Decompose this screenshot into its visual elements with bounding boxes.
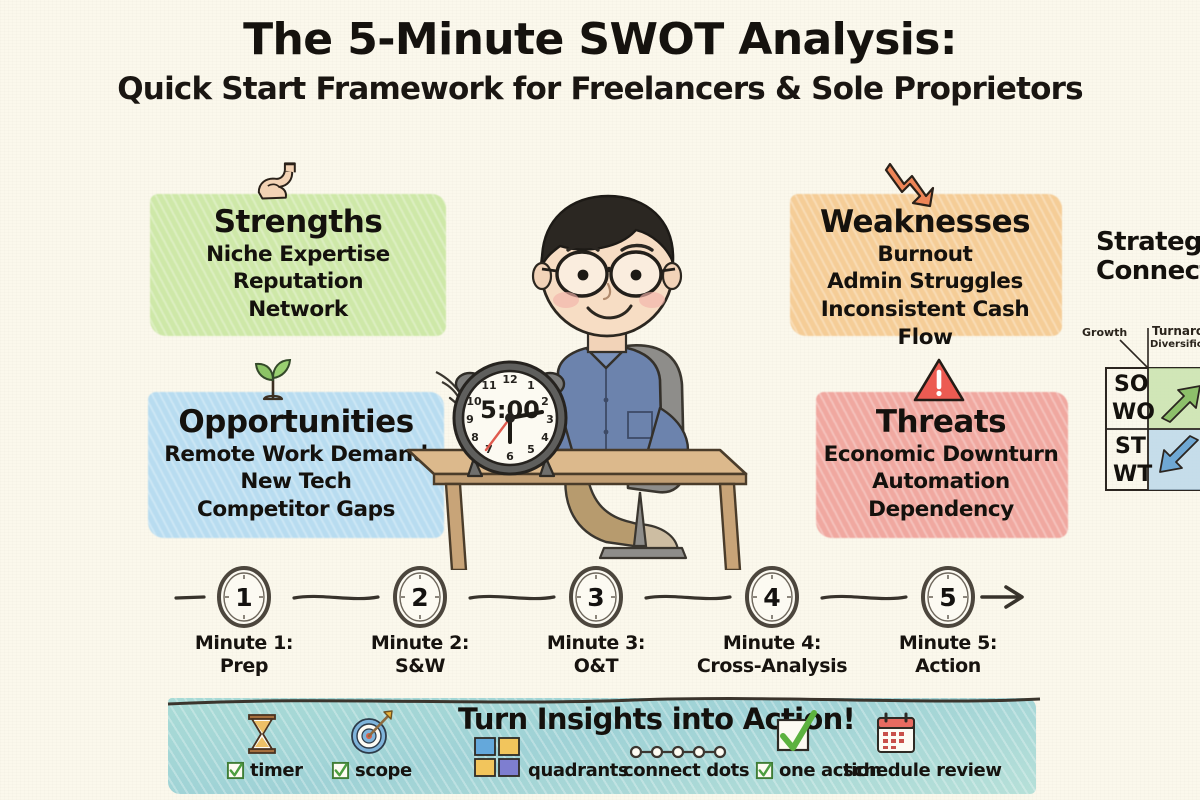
chip-label: connect dots [623,760,749,781]
title-block: The 5-Minute SWOT Analysis: Quick Start … [0,16,1200,106]
timeline-label-2: Minute 2: S&W [325,632,515,678]
page-title: The 5-Minute SWOT Analysis: [0,16,1200,64]
timeline-number: 5 [920,566,976,628]
timeline-number: 1 [216,566,272,628]
timeline-label-line2: S&W [325,655,515,678]
checkbox-icon[interactable] [226,761,245,780]
svg-text:4: 4 [541,431,549,444]
weaknesses-item: Burnout [790,241,1060,269]
svg-text:11: 11 [481,379,496,392]
timeline-node-4[interactable]: 4 [744,566,800,628]
timeline-label-4: Minute 4: Cross-Analysis [677,632,867,678]
matrix-cell-st: ST [1115,434,1146,459]
timeline-node-5[interactable]: 5 [920,566,976,628]
timeline-label-1: Minute 1: Prep [149,632,339,678]
threats-item: Automation [818,468,1064,496]
arrow-right-icon [982,587,1022,607]
chip-connect-dots[interactable]: connect dots [623,760,749,781]
svg-text:2: 2 [541,395,549,408]
threats-items: Economic Downturn Automation Dependency [818,441,1064,525]
svg-text:3: 3 [546,413,554,426]
weaknesses-items: Burnout Admin Struggles Inconsistent Cas… [790,241,1060,353]
timeline-number: 3 [568,566,624,628]
chip-quadrants[interactable]: quadrants [528,760,628,781]
timeline-label-line1: Minute 4: [677,632,867,655]
page-subtitle: Quick Start Framework for Freelancers & … [0,72,1200,107]
green-checkmark-icon [773,710,819,760]
threats-item: Economic Downturn [818,441,1064,469]
hourglass-icon [240,710,284,758]
warning-triangle-icon [910,352,968,410]
svg-text:12: 12 [502,373,517,386]
svg-text:5: 5 [527,443,535,456]
seedling-icon [244,352,302,410]
chip-label: timer [250,760,303,781]
timeline: 1 Minute 1: Prep 2 Minute 2: S&W [0,560,1200,690]
svg-text:9: 9 [466,413,474,426]
timeline-number: 2 [392,566,448,628]
strategic-title-line1: Strategic [1096,228,1200,257]
svg-text:1: 1 [527,379,535,392]
threats-title: Threats [818,406,1064,439]
weaknesses-item: Admin Struggles [790,268,1060,296]
matrix-cell-wo: WO [1112,400,1155,425]
svg-text:8: 8 [471,431,479,444]
timeline-label-5: Minute 5: Action [853,632,1043,678]
weaknesses-item: Inconsistent Cash Flow [790,296,1060,352]
matrix-cell-so: SO [1114,372,1149,397]
infographic-canvas: The 5-Minute SWOT Analysis: Quick Start … [0,0,1200,800]
timeline-label-line1: Minute 2: [325,632,515,655]
timeline-label-line2: Action [853,655,1043,678]
chip-timer[interactable]: timer [226,760,303,781]
timeline-node-1[interactable]: 1 [216,566,272,628]
chip-label: scope [355,760,412,781]
timeline-label-line1: Minute 3: [501,632,691,655]
target-dart-icon [346,708,396,758]
chip-label: schedule review [843,760,1002,781]
timeline-label-line1: Minute 5: [853,632,1043,655]
timeline-number: 4 [744,566,800,628]
checkbox-icon[interactable] [755,761,774,780]
svg-text:6: 6 [506,450,514,463]
strategic-matrix: Growth Turnaround Diversification SO WO … [1080,322,1200,532]
timeline-label-line2: Cross-Analysis [677,655,867,678]
quadrant-weaknesses[interactable]: Weaknesses Burnout Admin Struggles Incon… [790,178,1060,338]
timeline-node-2[interactable]: 2 [392,566,448,628]
strategic-title-line2: Connections [1096,257,1200,286]
chip-label: quadrants [528,760,628,781]
matrix-cell-wt: WT [1113,462,1152,487]
calendar-icon [873,710,919,760]
quadrant-threats[interactable]: Threats Economic Downturn Automation Dep… [818,378,1064,538]
strategic-connections-title: Strategic Connections [1080,228,1200,285]
chip-scope[interactable]: scope [331,760,412,781]
timeline-node-3[interactable]: 3 [568,566,624,628]
chip-schedule-review[interactable]: schedule review [843,760,1002,781]
timeline-label-3: Minute 3: O&T [501,632,691,678]
threats-item: Dependency [818,496,1064,524]
action-bar: Turn Insights into Action! timer [168,698,1036,794]
strategic-connections-panel[interactable]: Strategic Connections Growth Turnaround … [1080,228,1200,538]
timeline-label-line2: O&T [501,655,691,678]
timeline-label-line2: Prep [149,655,339,678]
four-quadrants-icon [473,736,523,786]
checkbox-icon[interactable] [331,761,350,780]
timeline-label-line1: Minute 1: [149,632,339,655]
illustration-freelancer-at-desk: 1212 345 678 91011 5:00 [390,150,810,570]
weaknesses-title: Weaknesses [790,206,1060,239]
